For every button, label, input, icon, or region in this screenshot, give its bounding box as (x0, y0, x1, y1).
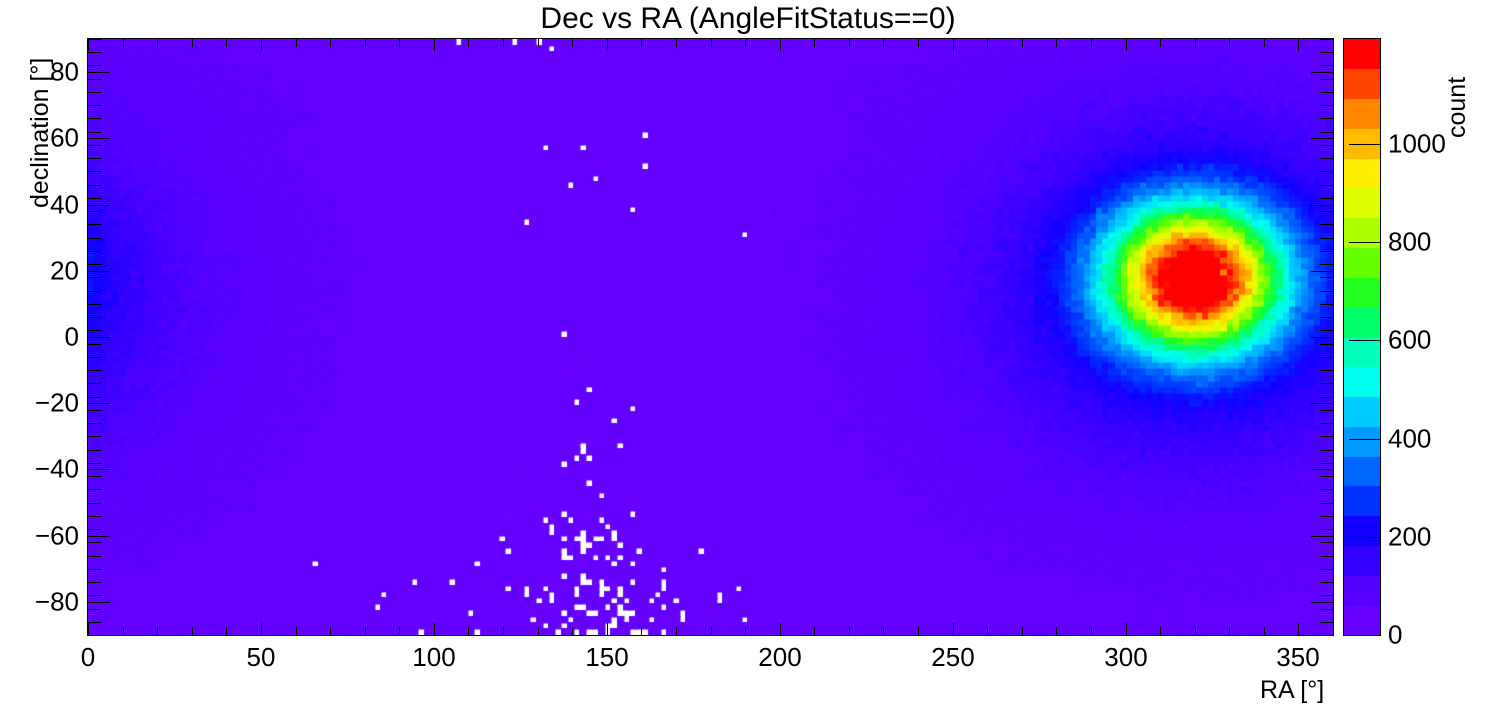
x-minor-tick (641, 627, 642, 635)
x-minor-tick-top (1126, 39, 1127, 47)
y-minor-tick-right (1320, 529, 1333, 530)
x-minor-tick (1264, 627, 1265, 635)
y-minor-tick-right (1320, 582, 1333, 583)
y-minor-tick (88, 118, 101, 119)
y-major-tick-right (1311, 205, 1333, 206)
y-minor-tick (88, 542, 101, 543)
y-minor-tick (88, 79, 101, 80)
y-tick-label: −40 (0, 454, 79, 485)
y-tick-label: 20 (0, 256, 79, 287)
x-minor-tick-top (953, 39, 954, 47)
x-minor-tick (918, 627, 919, 635)
y-minor-tick (88, 609, 101, 610)
y-minor-tick (88, 264, 101, 265)
y-minor-tick (88, 291, 101, 292)
z-tick-label: 0 (1388, 620, 1496, 651)
y-minor-tick (88, 423, 101, 424)
y-minor-tick (88, 211, 101, 212)
x-minor-tick-top (226, 39, 227, 47)
x-minor-tick (814, 627, 815, 635)
y-minor-tick (88, 397, 101, 398)
y-minor-tick-right (1320, 542, 1333, 543)
x-tick-label: 300 (1066, 642, 1186, 673)
x-minor-tick (711, 627, 712, 635)
x-minor-tick-top (676, 39, 677, 47)
y-major-tick-right (1311, 602, 1333, 603)
y-minor-tick (88, 383, 101, 384)
z-tick-label: 1000 (1388, 129, 1496, 160)
x-minor-tick-top (399, 39, 400, 47)
y-minor-tick-right (1320, 450, 1333, 451)
y-minor-tick-right (1320, 277, 1333, 278)
x-tick-label: 100 (374, 642, 494, 673)
y-major-tick (88, 138, 110, 139)
x-tick-label: 350 (1238, 642, 1358, 673)
y-minor-tick-right (1320, 357, 1333, 358)
x-minor-tick (883, 627, 884, 635)
y-minor-tick (88, 556, 101, 557)
y-minor-tick (88, 503, 101, 504)
y-major-tick (88, 602, 110, 603)
y-tick-label: 60 (0, 123, 79, 154)
x-minor-tick-top (711, 39, 712, 47)
plot-frame (87, 38, 1334, 636)
x-minor-tick (1056, 627, 1057, 635)
z-major-tick (1349, 439, 1380, 440)
y-minor-tick-right (1320, 410, 1333, 411)
y-minor-tick-right (1320, 211, 1333, 212)
y-minor-tick-right (1320, 145, 1333, 146)
y-minor-tick (88, 569, 101, 570)
x-minor-tick-top (849, 39, 850, 47)
x-minor-tick-top (883, 39, 884, 47)
y-minor-tick (88, 622, 101, 623)
y-minor-tick (88, 39, 101, 40)
x-minor-tick-top (330, 39, 331, 47)
x-axis-title: RA [°] (1260, 676, 1324, 705)
y-minor-tick-right (1320, 397, 1333, 398)
y-major-tick (88, 403, 110, 404)
y-minor-tick-right (1320, 463, 1333, 464)
y-minor-tick (88, 476, 101, 477)
x-tick-label: 250 (893, 642, 1013, 673)
x-minor-tick-top (1195, 39, 1196, 47)
y-minor-tick-right (1320, 304, 1333, 305)
y-minor-tick-right (1320, 569, 1333, 570)
y-minor-tick (88, 224, 101, 225)
y-minor-tick (88, 344, 101, 345)
y-minor-tick (88, 158, 101, 159)
y-minor-tick (88, 317, 101, 318)
y-minor-tick (88, 92, 101, 93)
x-minor-tick (1195, 627, 1196, 635)
x-minor-tick (607, 627, 608, 635)
x-minor-tick (123, 627, 124, 635)
x-minor-tick (1022, 627, 1023, 635)
y-minor-tick-right (1320, 383, 1333, 384)
x-minor-tick (1126, 627, 1127, 635)
page-title: Dec vs RA (AngleFitStatus==0) (0, 2, 1496, 36)
x-minor-tick-top (468, 39, 469, 47)
y-major-tick-right (1311, 469, 1333, 470)
y-minor-tick (88, 52, 101, 53)
y-major-tick (88, 469, 110, 470)
y-minor-tick (88, 595, 101, 596)
y-minor-tick-right (1320, 291, 1333, 292)
x-tick-label: 200 (720, 642, 840, 673)
y-major-tick-right (1311, 337, 1333, 338)
z-tick-label: 200 (1388, 522, 1496, 553)
x-minor-tick-top (1264, 39, 1265, 47)
x-minor-tick (226, 627, 227, 635)
x-minor-tick (538, 627, 539, 635)
y-minor-tick-right (1320, 198, 1333, 199)
y-minor-tick (88, 198, 101, 199)
y-tick-label: 0 (0, 322, 79, 353)
x-minor-tick (953, 627, 954, 635)
y-minor-tick-right (1320, 185, 1333, 186)
x-minor-tick (1229, 627, 1230, 635)
y-minor-tick-right (1320, 516, 1333, 517)
y-minor-tick-right (1320, 503, 1333, 504)
y-minor-tick-right (1320, 238, 1333, 239)
x-minor-tick-top (1160, 39, 1161, 47)
y-tick-label: 40 (0, 190, 79, 221)
x-minor-tick-top (434, 39, 435, 47)
x-minor-tick-top (123, 39, 124, 47)
y-minor-tick (88, 304, 101, 305)
y-minor-tick-right (1320, 79, 1333, 80)
z-tick-label: 600 (1388, 325, 1496, 356)
x-tick-label: 0 (28, 642, 148, 673)
x-minor-tick (780, 627, 781, 635)
y-major-tick-right (1311, 403, 1333, 404)
x-minor-tick (399, 627, 400, 635)
y-major-tick (88, 271, 110, 272)
y-major-tick-right (1311, 138, 1333, 139)
y-minor-tick-right (1320, 489, 1333, 490)
y-minor-tick-right (1320, 370, 1333, 371)
y-minor-tick-right (1320, 92, 1333, 93)
y-minor-tick-right (1320, 52, 1333, 53)
x-minor-tick-top (987, 39, 988, 47)
y-minor-tick (88, 145, 101, 146)
y-minor-tick (88, 489, 101, 490)
y-minor-tick-right (1320, 436, 1333, 437)
y-minor-tick-right (1320, 39, 1333, 40)
y-minor-tick-right (1320, 476, 1333, 477)
x-minor-tick (330, 627, 331, 635)
y-major-tick-right (1311, 536, 1333, 537)
x-minor-tick (157, 627, 158, 635)
z-tick-label: 400 (1388, 424, 1496, 455)
y-minor-tick-right (1320, 556, 1333, 557)
x-minor-tick-top (572, 39, 573, 47)
x-minor-tick (745, 627, 746, 635)
x-minor-tick (296, 627, 297, 635)
y-minor-tick (88, 436, 101, 437)
y-minor-tick-right (1320, 158, 1333, 159)
y-minor-tick-right (1320, 171, 1333, 172)
plot-canvas-root: Dec vs RA (AngleFitStatus==0) declinatio… (0, 0, 1496, 722)
x-minor-tick (849, 627, 850, 635)
z-major-tick (1349, 537, 1380, 538)
x-minor-tick-top (1229, 39, 1230, 47)
x-minor-tick-top (88, 39, 89, 47)
x-minor-tick (365, 627, 366, 635)
x-minor-tick (1160, 627, 1161, 635)
x-minor-tick (88, 627, 89, 635)
y-minor-tick (88, 330, 101, 331)
x-minor-tick-top (538, 39, 539, 47)
x-minor-tick (261, 627, 262, 635)
y-major-tick-right (1311, 271, 1333, 272)
z-major-tick (1349, 340, 1380, 341)
y-minor-tick-right (1320, 317, 1333, 318)
x-minor-tick (468, 627, 469, 635)
y-major-tick-right (1311, 72, 1333, 73)
y-minor-tick (88, 463, 101, 464)
y-minor-tick-right (1320, 595, 1333, 596)
x-minor-tick (434, 627, 435, 635)
x-minor-tick (1091, 627, 1092, 635)
y-minor-tick-right (1320, 622, 1333, 623)
y-minor-tick (88, 582, 101, 583)
x-minor-tick-top (607, 39, 608, 47)
x-minor-tick-top (192, 39, 193, 47)
y-minor-tick (88, 516, 101, 517)
x-minor-tick-top (780, 39, 781, 47)
y-tick-label: 80 (0, 57, 79, 88)
y-major-tick (88, 337, 110, 338)
x-tick-label: 150 (547, 642, 667, 673)
x-minor-tick (1298, 627, 1299, 635)
x-minor-tick-top (814, 39, 815, 47)
y-minor-tick (88, 529, 101, 530)
y-minor-tick-right (1320, 118, 1333, 119)
y-tick-label: −60 (0, 521, 79, 552)
color-scale-frame (1343, 38, 1381, 636)
y-minor-tick (88, 185, 101, 186)
y-minor-tick (88, 65, 101, 66)
y-major-tick (88, 72, 110, 73)
x-minor-tick (503, 627, 504, 635)
z-major-tick (1349, 144, 1380, 145)
y-minor-tick (88, 370, 101, 371)
x-tick-label: 50 (201, 642, 321, 673)
y-minor-tick (88, 105, 101, 106)
x-minor-tick-top (261, 39, 262, 47)
y-tick-label: −20 (0, 388, 79, 419)
x-minor-tick-top (503, 39, 504, 47)
x-minor-tick (572, 627, 573, 635)
y-minor-tick-right (1320, 344, 1333, 345)
x-minor-tick-top (157, 39, 158, 47)
y-major-tick (88, 536, 110, 537)
y-minor-tick (88, 171, 101, 172)
x-minor-tick-top (918, 39, 919, 47)
y-minor-tick (88, 132, 101, 133)
y-minor-tick-right (1320, 330, 1333, 331)
y-minor-tick-right (1320, 105, 1333, 106)
y-minor-tick-right (1320, 224, 1333, 225)
y-minor-tick-right (1320, 65, 1333, 66)
x-minor-tick-top (1022, 39, 1023, 47)
x-minor-tick (676, 627, 677, 635)
y-minor-tick (88, 450, 101, 451)
x-minor-tick-top (1298, 39, 1299, 47)
y-minor-tick (88, 238, 101, 239)
x-minor-tick (192, 627, 193, 635)
x-minor-tick-top (745, 39, 746, 47)
y-minor-tick-right (1320, 609, 1333, 610)
x-minor-tick (987, 627, 988, 635)
y-minor-tick (88, 410, 101, 411)
x-minor-tick-top (296, 39, 297, 47)
y-minor-tick (88, 277, 101, 278)
z-major-tick (1349, 242, 1380, 243)
z-major-tick (1349, 635, 1380, 636)
x-minor-tick-top (1056, 39, 1057, 47)
y-minor-tick (88, 251, 101, 252)
y-minor-tick (88, 357, 101, 358)
x-minor-tick-top (1091, 39, 1092, 47)
x-minor-tick-top (641, 39, 642, 47)
x-minor-tick-top (365, 39, 366, 47)
y-minor-tick-right (1320, 132, 1333, 133)
y-minor-tick-right (1320, 264, 1333, 265)
y-minor-tick-right (1320, 423, 1333, 424)
y-minor-tick-right (1320, 251, 1333, 252)
y-tick-label: −80 (0, 587, 79, 618)
y-major-tick (88, 205, 110, 206)
z-tick-label: 800 (1388, 227, 1496, 258)
